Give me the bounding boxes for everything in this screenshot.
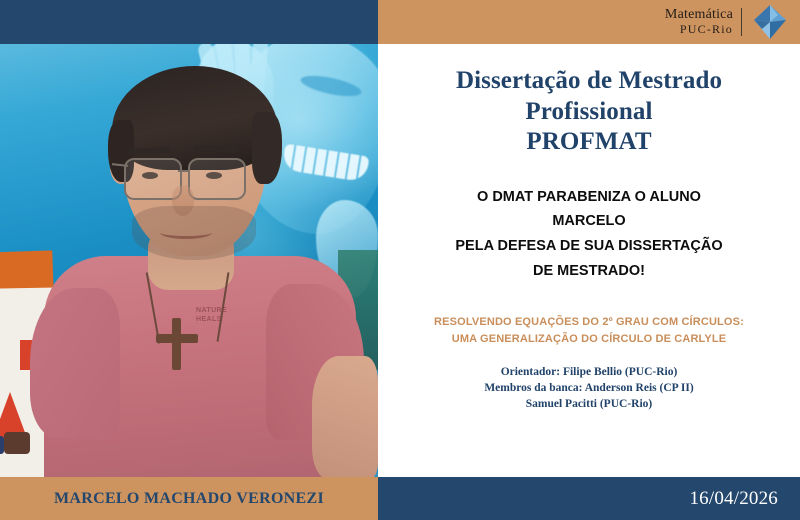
committee-advisor: Orientador: Filipe Bellio (PUC-Rio) bbox=[392, 364, 786, 380]
title-line-2: Profissional bbox=[396, 97, 782, 128]
defense-announcement-poster: NATURE HEALS Matemática PUC-Rio Di bbox=[0, 0, 800, 520]
thesis-title-line-1: RESOLVENDO EQUAÇÕES DO 2º GRAU COM CÍRCU… bbox=[392, 314, 786, 331]
congratulation-line-4: DE MESTRADO! bbox=[390, 259, 788, 284]
committee-list: Orientador: Filipe Bellio (PUC-Rio) Memb… bbox=[378, 364, 800, 412]
committee-member-2: Samuel Pacitti (PUC-Rio) bbox=[392, 396, 786, 412]
crucifix-pendant-icon bbox=[156, 334, 198, 343]
person-figure: NATURE HEALS bbox=[0, 0, 378, 477]
page-title: Dissertação de Mestrado Profissional PRO… bbox=[378, 66, 800, 158]
logo-line-pucrio: PUC-Rio bbox=[665, 23, 733, 36]
congratulation-line-3: PELA DEFESA DE SUA DISSERTAÇÃO bbox=[390, 234, 788, 259]
arm-right bbox=[312, 356, 378, 477]
thesis-title-line-2: UMA GENERALIZAÇÃO DO CÍRCULO DE CARLYLE bbox=[392, 331, 786, 348]
poster-content: Dissertação de Mestrado Profissional PRO… bbox=[378, 44, 800, 477]
crucifix-pendant-icon bbox=[172, 318, 181, 370]
eyeglasses-lens-right bbox=[188, 158, 246, 200]
congratulation-line-2: MARCELO bbox=[390, 209, 788, 234]
thesis-title: RESOLVENDO EQUAÇÕES DO 2º GRAU COM CÍRCU… bbox=[378, 314, 800, 347]
logo-wordmark: Matemática PUC-Rio bbox=[665, 8, 742, 35]
hair-side-right bbox=[252, 112, 282, 184]
header-bar: Matemática PUC-Rio bbox=[378, 0, 800, 44]
footer-date-panel: 16/04/2026 bbox=[378, 477, 800, 520]
title-line-1: Dissertação de Mestrado bbox=[396, 66, 782, 97]
shoulder-left bbox=[30, 288, 120, 438]
footer-name-panel: MARCELO MACHADO VERONEZI bbox=[0, 477, 378, 520]
title-line-3: PROFMAT bbox=[396, 127, 782, 158]
photo-top-navy-band bbox=[0, 0, 378, 44]
candidate-name: MARCELO MACHADO VERONEZI bbox=[54, 490, 324, 508]
candidate-photo: NATURE HEALS bbox=[0, 0, 378, 477]
shirt-print-text: NATURE HEALS bbox=[196, 306, 227, 324]
committee-member-1: Membros da banca: Anderson Reis (CP II) bbox=[392, 380, 786, 396]
logo-line-matematica: Matemática bbox=[665, 8, 733, 23]
congratulation-message: O DMAT PARABENIZA O ALUNO MARCELO PELA D… bbox=[378, 185, 800, 285]
footer-bar: MARCELO MACHADO VERONEZI 16/04/2026 bbox=[0, 477, 800, 520]
shirt-print-line-1: NATURE bbox=[196, 306, 227, 315]
congratulation-line-1: O DMAT PARABENIZA O ALUNO bbox=[390, 185, 788, 210]
mouth-smile bbox=[160, 226, 212, 239]
puc-rio-octahedron-icon bbox=[750, 3, 790, 41]
puc-rio-logo: Matemática PUC-Rio bbox=[665, 3, 790, 41]
shirt-print-line-2: HEALS bbox=[196, 315, 227, 324]
defense-date: 16/04/2026 bbox=[689, 488, 778, 510]
eyeglasses-bridge bbox=[178, 170, 190, 172]
